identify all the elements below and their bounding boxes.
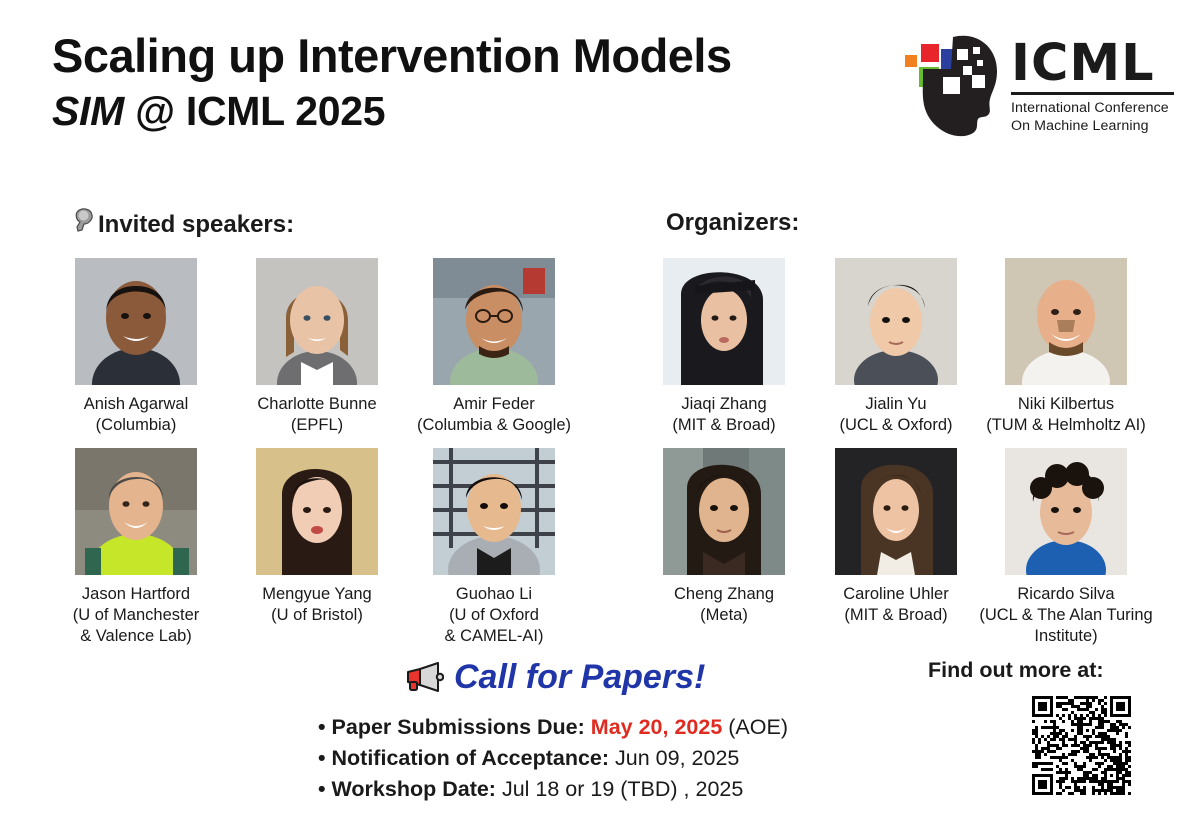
list-item: • Workshop Date: Jul 18 or 19 (TBD) , 20…	[318, 774, 788, 805]
person-name: Amir Feder	[374, 394, 614, 415]
deadline-label: Workshop Date:	[332, 777, 496, 801]
organizers-label: Organizers:	[666, 209, 799, 237]
poster-root: Scaling up Intervention Models SIM @ ICM…	[0, 0, 1200, 832]
call-for-papers-label: Call for Papers!	[454, 658, 705, 697]
avatar	[835, 448, 957, 575]
list-item: • Paper Submissions Due: May 20, 2025 (A…	[318, 712, 788, 743]
organizers-heading: Organizers:	[666, 209, 799, 237]
deadline-highlight: May 20, 2025	[585, 715, 722, 739]
person-card: Niki Kilbertus (TUM & Helmholtz AI)	[946, 258, 1186, 436]
find-out-more-label: Find out more at:	[928, 658, 1104, 683]
invited-speakers-heading: Invited speakers:	[74, 208, 294, 241]
avatar	[75, 448, 197, 575]
title-line-2-rest: @ ICML 2025	[124, 88, 385, 134]
deadlines-list: • Paper Submissions Due: May 20, 2025 (A…	[318, 712, 788, 806]
title-line-1: Scaling up Intervention Models	[52, 30, 732, 83]
qr-code[interactable]	[1032, 696, 1131, 828]
bullet-marker: •	[318, 777, 332, 801]
icml-subtitle-line-2: On Machine Learning	[1011, 117, 1175, 135]
bullet-marker: •	[318, 715, 332, 739]
icml-wordmark: ICML	[1011, 38, 1175, 89]
sim-acronym: SIM	[52, 88, 124, 134]
person-affiliation: (Columbia & Google)	[374, 415, 614, 436]
page-title: Scaling up Intervention Models SIM @ ICM…	[52, 30, 732, 136]
poster-header: Scaling up Intervention Models SIM @ ICM…	[0, 0, 1200, 170]
deadline-value: (AOE)	[722, 715, 788, 739]
person-affiliation: (UCL & The Alan Turing Institute)	[946, 605, 1186, 647]
avatar	[256, 448, 378, 575]
avatar	[75, 258, 197, 385]
megaphone-icon	[404, 661, 444, 695]
person-card: Guohao Li (U of Oxford & CAMEL-AI)	[374, 448, 614, 647]
deadline-label: Notification of Acceptance:	[332, 746, 610, 770]
avatar	[663, 258, 785, 385]
deadline-value: Jul 18 or 19 (TBD) , 2025	[496, 777, 743, 801]
avatar	[663, 448, 785, 575]
studio-microphone-icon	[74, 208, 96, 241]
call-for-papers-title: Call for Papers!	[404, 658, 705, 697]
deadline-label: Paper Submissions Due:	[332, 715, 585, 739]
list-item: • Notification of Acceptance: Jun 09, 20…	[318, 743, 788, 774]
icml-logo: ICML International Conference On Machine…	[893, 33, 1175, 145]
avatar	[433, 448, 555, 575]
person-card: Amir Feder (Columbia & Google)	[374, 258, 614, 436]
avatar	[1005, 448, 1127, 575]
avatar	[835, 258, 957, 385]
deadline-value: Jun 09, 2025	[609, 746, 739, 770]
icml-head-icon	[893, 33, 1005, 138]
person-affiliation: (U of Oxford & CAMEL-AI)	[374, 605, 614, 647]
icml-subtitle-line-1: International Conference	[1011, 99, 1175, 117]
person-affiliation: (TUM & Helmholtz AI)	[946, 415, 1186, 436]
title-line-2: SIM @ ICML 2025	[52, 87, 732, 136]
icml-wordmark-block: ICML International Conference On Machine…	[1011, 38, 1175, 135]
avatar	[1005, 258, 1127, 385]
invited-speakers-label: Invited speakers:	[98, 211, 294, 239]
avatar	[256, 258, 378, 385]
avatar	[433, 258, 555, 385]
person-card: Ricardo Silva (UCL & The Alan Turing Ins…	[946, 448, 1186, 647]
person-name: Niki Kilbertus	[946, 394, 1186, 415]
person-name: Ricardo Silva	[946, 584, 1186, 605]
person-name: Guohao Li	[374, 584, 614, 605]
bullet-marker: •	[318, 746, 332, 770]
